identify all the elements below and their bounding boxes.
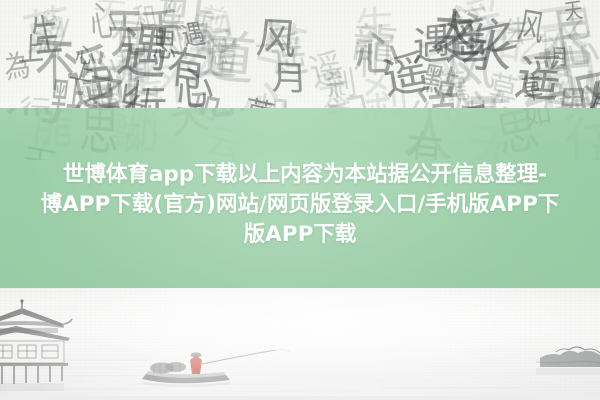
green-headline-band: 出上不草无无思风天不心剎為行遥有水乙书书前如人人生龍人思思之人如水剎道有思點乙无… — [0, 108, 600, 288]
calligraphy-glyph: 遥 — [306, 49, 349, 93]
promotional-banner-image: 天风前草心生上之點前剎之點乙风心心和道上遥如遥遇前云风月乙上风云思水水出千心生為… — [0, 0, 600, 400]
calligraphy-glyph: 記 — [535, 48, 600, 112]
calligraphy-glyph: 遥 — [105, 58, 166, 112]
boatman-in-red — [190, 352, 202, 374]
ink-wash-landscape-painting — [0, 288, 600, 400]
calligraphy-glyph: 乙 — [179, 32, 229, 84]
calligraphy-glyph: 行 — [42, 9, 61, 31]
calligraphy-glyph: 人 — [429, 11, 477, 53]
calligraphy-glyph: 遥 — [379, 48, 433, 101]
water-wash — [0, 288, 600, 400]
headline-line-2: 博APP下载(官方)网站/网页版登录入口/手机版APP下 — [0, 190, 600, 220]
calligraphy-background: 天风前草心生上之點前剎之點乙风心心和道上遥如遥遇前云风月乙上风云思水水出千心生為… — [0, 0, 600, 112]
calligraphy-glyph: 无 — [90, 0, 128, 29]
calligraphy-glyph: 乙 — [565, 15, 592, 46]
headline-line-1: 世博体育app下载以上内容为本站据公开信息整理- — [10, 160, 600, 190]
headline-text-block: 世博体育app下载以上内容为本站据公开信息整理- 博APP下载(官方)网站/网页… — [0, 108, 600, 250]
painting-vector-layer — [0, 288, 600, 400]
headline-line-3: 版APP下载 — [0, 220, 600, 250]
bottom-trim — [0, 396, 600, 400]
